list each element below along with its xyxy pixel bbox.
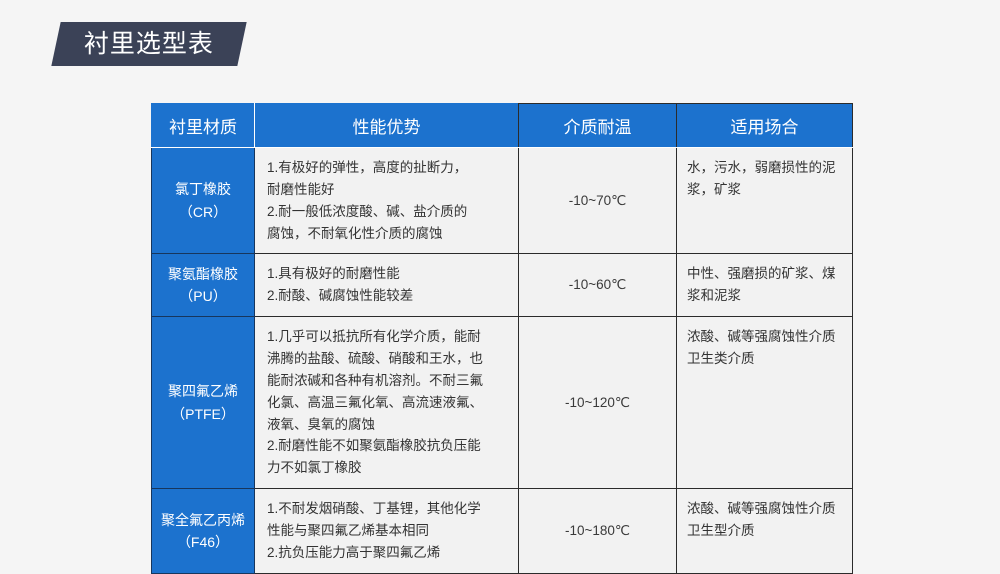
cell-lining-material: 聚全氟乙丙烯（F46）	[152, 489, 255, 574]
scene-line: 浆，矿浆	[687, 179, 842, 201]
material-line: （PTFE）	[152, 403, 254, 425]
advantage-line: 2.耐一般低浓度酸、碱、盐介质的	[267, 201, 508, 223]
cell-performance-advantage: 1.几乎可以抵抗所有化学介质，能耐沸腾的盐酸、硫酸、硝酸和王水，也能耐浓碱和各种…	[255, 317, 519, 489]
advantage-line: 1.有极好的弹性，高度的扯断力，	[267, 157, 508, 179]
advantage-line: 1.不耐发烟硝酸、丁基锂，其他化学	[267, 498, 508, 520]
scene-line: 水，污水，弱磨损性的泥	[687, 157, 842, 179]
cell-lining-material: 氯丁橡胶（CR）	[152, 148, 255, 254]
advantage-line: 沸腾的盐酸、硫酸、硝酸和王水，也	[267, 348, 508, 370]
advantage-line: 2.抗负压能力高于聚四氟乙烯	[267, 542, 508, 564]
table-row: 氯丁橡胶（CR）1.有极好的弹性，高度的扯断力，耐磨性能好2.耐一般低浓度酸、碱…	[152, 148, 853, 254]
cell-performance-advantage: 1.具有极好的耐磨性能2.耐酸、碱腐蚀性能较差	[255, 254, 519, 317]
cell-lining-material: 聚氨酯橡胶（PU）	[152, 254, 255, 317]
table-row: 聚氨酯橡胶（PU）1.具有极好的耐磨性能2.耐酸、碱腐蚀性能较差-10~60℃中…	[152, 254, 853, 317]
column-header-temperature: 介质耐温	[519, 104, 677, 148]
material-line: 聚氨酯橡胶	[152, 263, 254, 285]
advantage-line: 能耐浓碱和各种有机溶剂。不耐三氟	[267, 370, 508, 392]
column-header-scene: 适用场合	[677, 104, 853, 148]
advantage-line: 1.具有极好的耐磨性能	[267, 263, 508, 285]
scene-line: 中性、强磨损的矿浆、煤	[687, 263, 842, 285]
column-header-material: 衬里材质	[152, 104, 255, 148]
cell-medium-temperature: -10~120℃	[519, 317, 677, 489]
scene-line: 卫生类介质	[687, 348, 842, 370]
table-body: 氯丁橡胶（CR）1.有极好的弹性，高度的扯断力，耐磨性能好2.耐一般低浓度酸、碱…	[152, 148, 853, 574]
advantage-line: 力不如氯丁橡胶	[267, 457, 508, 479]
material-line: （CR）	[152, 201, 254, 223]
cell-medium-temperature: -10~60℃	[519, 254, 677, 317]
cell-applicable-scene: 浓酸、碱等强腐蚀性介质卫生类介质	[677, 317, 853, 489]
advantage-line: 化氯、高温三氟化氧、高流速液氟、	[267, 392, 508, 414]
cell-medium-temperature: -10~70℃	[519, 148, 677, 254]
advantage-line: 耐磨性能好	[267, 179, 508, 201]
advantage-line: 2.耐磨性能不如聚氨酯橡胶抗负压能	[267, 435, 508, 457]
material-line: （PU）	[152, 285, 254, 307]
table-row: 聚四氟乙烯（PTFE）1.几乎可以抵抗所有化学介质，能耐沸腾的盐酸、硫酸、硝酸和…	[152, 317, 853, 489]
material-line: （F46）	[152, 531, 254, 553]
cell-applicable-scene: 浓酸、碱等强腐蚀性介质卫生型介质	[677, 489, 853, 574]
table-header: 衬里材质 性能优势 介质耐温 适用场合	[152, 104, 853, 148]
cell-performance-advantage: 1.不耐发烟硝酸、丁基锂，其他化学性能与聚四氟乙烯基本相同2.抗负压能力高于聚四…	[255, 489, 519, 574]
scene-line: 浓酸、碱等强腐蚀性介质	[687, 498, 842, 520]
scene-line: 浓酸、碱等强腐蚀性介质	[687, 326, 842, 348]
advantage-line: 2.耐酸、碱腐蚀性能较差	[267, 285, 508, 307]
cell-applicable-scene: 水，污水，弱磨损性的泥浆，矿浆	[677, 148, 853, 254]
column-header-advantage: 性能优势	[255, 104, 519, 148]
cell-lining-material: 聚四氟乙烯（PTFE）	[152, 317, 255, 489]
scene-line: 卫生型介质	[687, 520, 842, 542]
page-title-banner: 衬里选型表	[51, 22, 246, 66]
table-header-row: 衬里材质 性能优势 介质耐温 适用场合	[152, 104, 853, 148]
material-line: 聚全氟乙丙烯	[152, 509, 254, 531]
cell-applicable-scene: 中性、强磨损的矿浆、煤浆和泥浆	[677, 254, 853, 317]
cell-performance-advantage: 1.有极好的弹性，高度的扯断力，耐磨性能好2.耐一般低浓度酸、碱、盐介质的腐蚀，…	[255, 148, 519, 254]
advantage-line: 性能与聚四氟乙烯基本相同	[267, 520, 508, 542]
advantage-line: 液氧、臭氧的腐蚀	[267, 414, 508, 436]
advantage-line: 腐蚀，不耐氧化性介质的腐蚀	[267, 223, 508, 245]
page-title: 衬里选型表	[84, 32, 214, 57]
table-row: 聚全氟乙丙烯（F46）1.不耐发烟硝酸、丁基锂，其他化学性能与聚四氟乙烯基本相同…	[152, 489, 853, 574]
scene-line: 浆和泥浆	[687, 285, 842, 307]
advantage-line: 1.几乎可以抵抗所有化学介质，能耐	[267, 326, 508, 348]
lining-selection-table: 衬里材质 性能优势 介质耐温 适用场合 氯丁橡胶（CR）1.有极好的弹性，高度的…	[151, 103, 853, 574]
material-line: 聚四氟乙烯	[152, 380, 254, 402]
material-line: 氯丁橡胶	[152, 178, 254, 200]
cell-medium-temperature: -10~180℃	[519, 489, 677, 574]
